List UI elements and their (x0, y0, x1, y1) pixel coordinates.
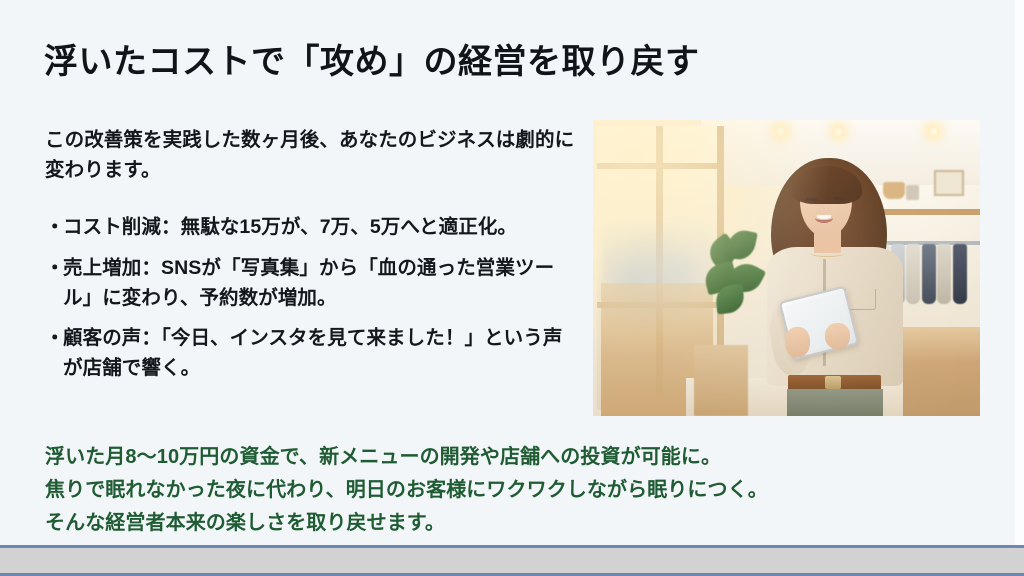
photo-woman-necklace (810, 249, 845, 257)
photo-garment (922, 244, 936, 303)
list-item-label: コスト削減：無駄な15万が、7万、5万へと適正化。 (63, 213, 575, 243)
page-title: 浮いたコストで「攻め」の経営を取り戻す (44, 41, 944, 84)
conclusion-line-3: そんな経営者本来の楽しさを取り戻せます。 (45, 507, 975, 540)
bullet-list: ・ コスト削減：無駄な15万が、7万、5万へと適正化。 ・ 売上増加：SNSが「… (45, 213, 575, 383)
bullet-point-icon: ・ (45, 324, 63, 354)
conclusion-line-1: 浮いた月8〜10万円の資金で、新メニューの開発や店舗への投資が可能に。 (45, 441, 975, 474)
list-item: ・ 顧客の声：「今日、インスタを見て来ました！」という声が店舗で響く。 (45, 324, 575, 383)
list-item-label: 顧客の声：「今日、インスタを見て来ました！」という声が店舗で響く。 (63, 324, 575, 383)
bottom-status-bar (0, 545, 1024, 576)
photo-woman-belt-buckle (825, 376, 841, 389)
photo-ceiling-light (774, 125, 787, 138)
bullet-point-icon: ・ (45, 254, 63, 284)
photo-woman-hand (785, 327, 810, 357)
bullet-point-icon: ・ (45, 213, 63, 243)
list-item: ・ 売上増加：SNSが「写真集」から「血の通った営業ツール」に変わり、予約数が増… (45, 254, 575, 313)
photo-garment (953, 244, 967, 303)
photo-display-block (694, 345, 748, 416)
slide-canvas: 浮いたコストで「攻め」の経営を取り戻す この改善策を実践した数ヶ月後、あなたのビ… (0, 0, 1024, 576)
photo-woman-hand (825, 323, 850, 350)
lead-paragraph: この改善策を実践した数ヶ月後、あなたのビジネスは劇的に変わります。 (45, 126, 575, 185)
photo-display-table (903, 327, 980, 416)
photo-ceiling-light (927, 125, 940, 138)
photo-potted-plant (705, 227, 767, 322)
photo-shelf-basket (883, 182, 905, 199)
list-item-label: 売上増加：SNSが「写真集」から「血の通った営業ツール」に変わり、予約数が増加。 (63, 254, 575, 313)
photo-scene-background (593, 120, 980, 416)
conclusion-line-2: 焦りで眠れなかった夜に代わり、明日のお客様にワクワクしながら眠りにつく。 (45, 474, 975, 507)
photo-garment (906, 244, 920, 303)
photo-woman-trousers (787, 389, 884, 416)
photo-shelf-vase (906, 185, 919, 200)
body-text-column: この改善策を実践した数ヶ月後、あなたのビジネスは劇的に変わります。 ・ コスト削… (45, 126, 575, 394)
slide-right-edge-strip (1015, 0, 1024, 545)
photo-garment (937, 244, 951, 303)
photo-shelf-picture-frame (934, 170, 964, 196)
smiling-shop-owner-with-tablet-photo (593, 120, 980, 416)
list-item: ・ コスト削減：無駄な15万が、7万、5万へと適正化。 (45, 213, 575, 243)
photo-plant-leaf (725, 228, 758, 263)
conclusion-block: 浮いた月8〜10万円の資金で、新メニューの開発や店舗への投資が可能に。 焦りで眠… (45, 441, 975, 540)
photo-ceiling-light (832, 125, 845, 138)
photo-window-mullion (597, 163, 717, 169)
